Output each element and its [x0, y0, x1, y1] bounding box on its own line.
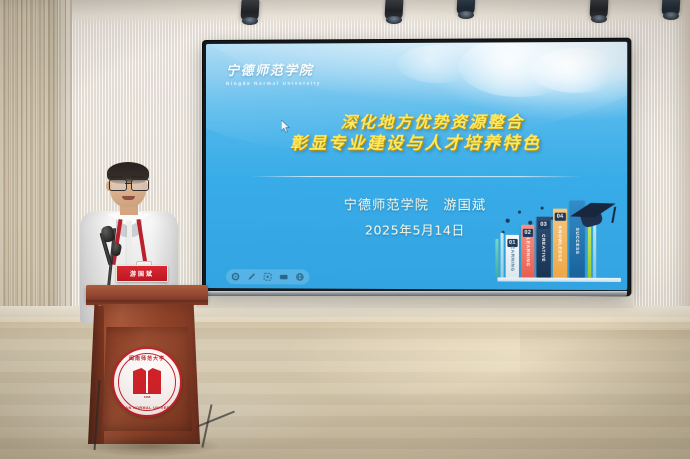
confetti-dot — [506, 219, 510, 223]
ceiling-spotlight — [239, 0, 261, 28]
podium-floor-shadow — [80, 435, 220, 457]
confetti-dot — [518, 211, 521, 214]
pointer-icon[interactable] — [231, 272, 240, 281]
cloud-shape — [397, 45, 479, 84]
name-plate: 游国斌 — [116, 265, 168, 282]
book-01: 01 LEARNING — [506, 235, 519, 278]
mouth — [122, 196, 135, 200]
ceiling-spotlight — [660, 0, 682, 23]
book-word: KNOWLEDGE — [558, 226, 563, 262]
book-word: LEARNING — [510, 242, 515, 271]
graduation-cap-icon — [569, 201, 617, 232]
slide-university-logo: 宁德师范学院 Ningde Normal University — [226, 59, 355, 86]
presentation-toolbar[interactable] — [226, 269, 309, 284]
emblem-cn-text: 闽南师范大学 — [114, 355, 180, 362]
books-illustration: 01 LEARNING 02 LEARNING 03 CREATIVE 04 K… — [493, 196, 621, 284]
globe-icon[interactable] — [295, 272, 304, 281]
book-number: 02 — [522, 229, 533, 237]
book-04: 04 KNOWLEDGE — [553, 209, 567, 278]
spotlight-icon[interactable] — [263, 272, 272, 281]
pencil-shape — [501, 233, 504, 278]
lectern-podium: 游国斌 闽南师范大学 1958 MINNAN NORMAL UNIVERSITY — [86, 285, 208, 459]
name-plate-text: 游国斌 — [130, 269, 154, 278]
screen-bottom-lip — [206, 291, 627, 296]
ceiling-spotlight — [383, 0, 405, 27]
book-03: 03 CREATIVE — [536, 217, 550, 278]
book-word: LEARNING — [525, 238, 530, 267]
book-number: 04 — [555, 213, 566, 221]
slide-title-line1: 深化地方优势资源整合 — [206, 113, 627, 133]
presentation-slide[interactable]: 宁德师范学院 Ningde Normal University 深化地方优势资源… — [206, 42, 627, 290]
led-display[interactable]: 宁德师范学院 Ningde Normal University 深化地方优势资源… — [203, 39, 630, 296]
book-shelf-line — [497, 277, 621, 282]
confetti-dot — [541, 207, 544, 210]
pen-icon[interactable] — [247, 272, 256, 281]
pencil-shape — [495, 239, 498, 277]
slide-logo-en: Ningde Normal University — [226, 80, 355, 85]
screen-icon[interactable] — [279, 272, 288, 281]
slide-logo-cn: 宁德师范学院 — [226, 59, 355, 79]
book-word: CREATIVE — [541, 234, 546, 262]
book-02: 02 LEARNING — [521, 225, 534, 278]
slide-title: 深化地方优势资源整合 彰显专业建设与人才培养特色 — [206, 113, 627, 154]
floor-shadow-right — [520, 330, 690, 459]
book-word: SUCCESS — [575, 227, 580, 254]
right-wall-edge — [672, 0, 690, 330]
eyeglasses — [108, 179, 149, 190]
ceiling-spotlight — [455, 0, 477, 22]
book-number: 03 — [538, 221, 549, 229]
university-emblem: 闽南师范大学 1958 MINNAN NORMAL UNIVERSITY — [112, 347, 182, 417]
ceiling-spotlight — [588, 0, 610, 26]
cloud-shape — [530, 48, 623, 93]
emblem-en-text: MINNAN NORMAL UNIVERSITY — [114, 406, 180, 410]
slide-title-line2: 彰显专业建设与人才培养特色 — [206, 133, 627, 154]
ceiling-shadow — [0, 0, 690, 26]
slide-divider — [250, 176, 582, 177]
lecture-hall-photo: 宁德师范学院 Ningde Normal University 深化地方优势资源… — [0, 0, 690, 459]
display-bezel: 宁德师范学院 Ningde Normal University 深化地方优势资源… — [206, 42, 627, 290]
left-wood-slat-panel — [0, 0, 58, 341]
emblem-year: 1958 — [114, 395, 180, 399]
